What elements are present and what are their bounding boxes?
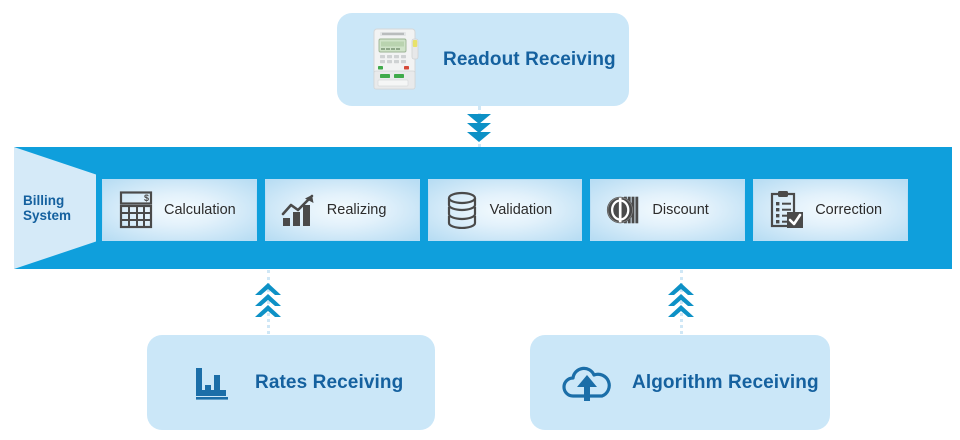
process-box-calculation[interactable]: $ Calculation <box>102 179 257 241</box>
process-box-realizing[interactable]: Realizing <box>265 179 420 241</box>
card-readout-receiving[interactable]: Readout Receiving <box>337 13 629 106</box>
billing-system-tag-label: Billing System <box>23 193 71 223</box>
cloud-upload-icon <box>560 363 614 403</box>
process-label-validation: Validation <box>490 202 553 218</box>
bar-chart-trend-icon <box>280 192 318 228</box>
electricity-meter-icon <box>371 27 421 93</box>
up-chevrons-icon <box>253 281 283 323</box>
bar-chart-icon <box>193 363 233 403</box>
billing-system-tag-line2: System <box>23 208 71 223</box>
diagram-canvas: Readout Receiving Billing System <box>0 0 960 440</box>
process-box-validation[interactable]: Validation <box>428 179 583 241</box>
card-rates-receiving[interactable]: Rates Receiving <box>147 335 435 430</box>
process-label-calculation: Calculation <box>164 202 236 218</box>
card-algorithm-receiving[interactable]: Algorithm Receiving <box>530 335 830 430</box>
process-label-discount: Discount <box>652 202 708 218</box>
process-box-row: $ Calculation <box>102 179 908 241</box>
clipboard-check-icon <box>768 190 806 230</box>
process-label-realizing: Realizing <box>327 202 387 218</box>
coin-dollar-icon <box>605 191 643 229</box>
card-algorithm-label: Algorithm Receiving <box>632 372 819 394</box>
up-chevrons-icon <box>666 281 696 323</box>
billing-system-tag-line1: Billing <box>23 193 71 208</box>
database-icon <box>443 191 481 229</box>
card-rates-label: Rates Receiving <box>255 372 403 394</box>
process-box-discount[interactable]: Discount <box>590 179 745 241</box>
process-box-correction[interactable]: Correction <box>753 179 908 241</box>
down-chevrons-icon <box>464 112 494 146</box>
calculator-icon: $ <box>117 191 155 229</box>
card-readout-label: Readout Receiving <box>443 49 616 71</box>
process-label-correction: Correction <box>815 202 882 218</box>
svg-text:$: $ <box>144 193 149 203</box>
